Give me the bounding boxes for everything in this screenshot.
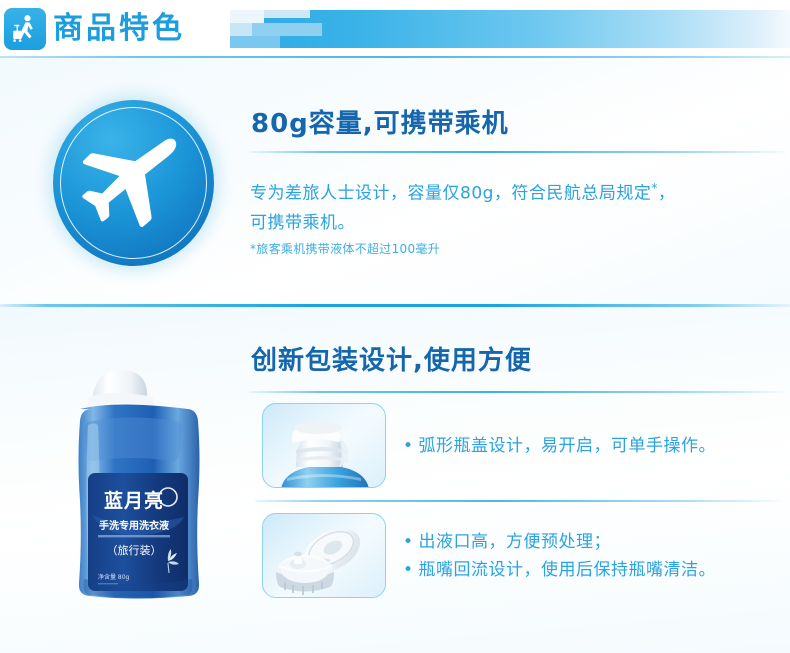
section2-title: 创新包装设计,使用方便 xyxy=(251,340,532,377)
product-subtitle: 手洗专用洗衣液 xyxy=(99,519,169,532)
section1-body: 专为差旅人士设计，容量仅80g，符合民航总局规定*， 可携带乘机。 xyxy=(250,174,780,238)
bottle-nozzle-open-photo xyxy=(262,513,386,598)
header-bar-block xyxy=(230,36,280,48)
bottle-cap-photo xyxy=(262,403,386,488)
section1-footnote: *旅客乘机携带液体不超过100毫升 xyxy=(250,240,440,257)
header-gradient-bar xyxy=(230,10,790,48)
bullet-dot-icon: • xyxy=(403,436,414,456)
section-capacity: 80g容量,可携带乘机 专为差旅人士设计，容量仅80g，符合民航总局规定*， 可… xyxy=(0,58,790,306)
product-bottle-image: 蓝月亮 手洗专用洗衣液 （旅行装） 净含量 80g xyxy=(58,365,218,610)
section1-title-underline xyxy=(250,151,790,153)
airplane-icon xyxy=(53,100,214,266)
section1-body-line2: 可携带乘机。 xyxy=(250,213,355,233)
section1-body-line1-tail: ， xyxy=(658,184,676,204)
list-item: •出液口高，方便预处理； xyxy=(403,528,790,556)
header-bar-block xyxy=(264,10,310,18)
bullet-text: 瓶嘴回流设计，使用后保持瓶嘴清洁。 xyxy=(419,560,717,580)
bullet-dot-icon: • xyxy=(403,560,414,580)
section1-title: 80g容量,可携带乘机 xyxy=(251,103,509,140)
list-item: •瓶嘴回流设计，使用后保持瓶嘴清洁。 xyxy=(403,556,790,584)
header-bar-block xyxy=(230,23,252,36)
feature-bullets: •弧形瓶盖设计，易开启，可单手操作。 xyxy=(403,403,790,488)
page-title: 商品特色 xyxy=(53,8,185,50)
feature-row-divider xyxy=(255,500,785,502)
bullet-dot-icon: • xyxy=(403,532,414,552)
section-packaging: 蓝月亮 手洗专用洗衣液 （旅行装） 净含量 80g 创新包装设计,使用方便 xyxy=(0,307,790,653)
bullet-text: 弧形瓶盖设计，易开启，可单手操作。 xyxy=(419,436,717,456)
list-item: •弧形瓶盖设计，易开启，可单手操作。 xyxy=(403,432,790,460)
feature-bullets: •出液口高，方便预处理； •瓶嘴回流设计，使用后保持瓶嘴清洁。 xyxy=(403,513,790,598)
section1-body-line1: 专为差旅人士设计，容量仅80g，符合民航总局规定 xyxy=(250,184,651,204)
product-net-weight: 净含量 80g xyxy=(98,573,130,581)
product-brand: 蓝月亮 xyxy=(104,489,164,512)
page-header: 商品特色 xyxy=(0,0,790,58)
header-bar-block xyxy=(230,10,264,23)
traveler-luggage-icon xyxy=(4,8,46,50)
section2-title-underline xyxy=(250,391,790,393)
product-variant: （旅行装） xyxy=(107,543,162,557)
header-bar-block xyxy=(252,23,322,36)
bullet-text: 出液口高，方便预处理； xyxy=(419,532,612,552)
